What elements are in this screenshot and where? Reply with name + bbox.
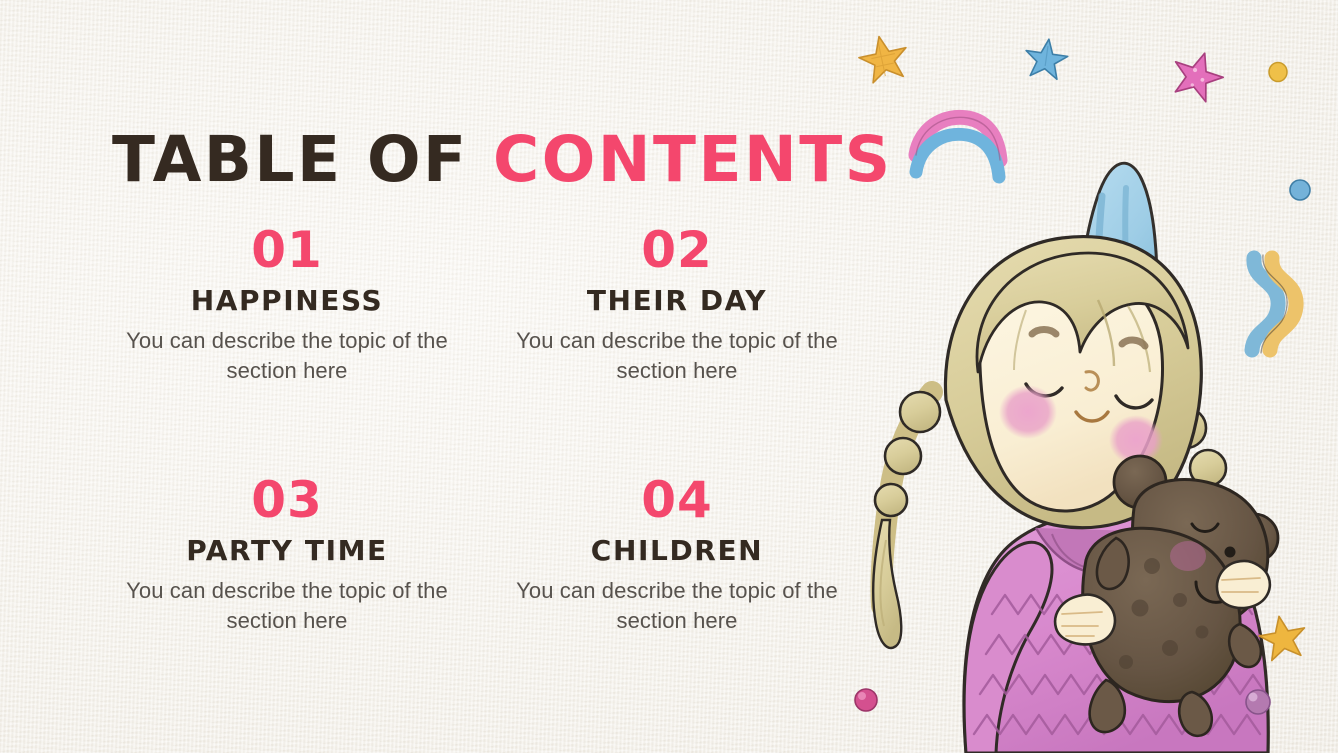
toc-item-03[interactable]: 03 PARTY TIME You can describe the topic… xyxy=(92,472,482,722)
slide-root: TABLE OF CONTENTS 01 HAPPINESS You can d… xyxy=(0,0,1338,753)
page-title: TABLE OF CONTENTS xyxy=(112,128,893,191)
page-title-accent-part: CONTENTS xyxy=(493,123,893,196)
toc-item-number: 01 xyxy=(92,224,482,277)
page-title-dark-part: TABLE OF xyxy=(112,123,469,196)
table-of-contents-grid: 01 HAPPINESS You can describe the topic … xyxy=(92,222,872,722)
purple-dot-icon xyxy=(1246,690,1270,714)
pink-star-icon xyxy=(1167,45,1229,104)
toc-item-04[interactable]: 04 CHILDREN You can describe the topic o… xyxy=(482,472,872,722)
blue-yellow-squiggle-icon xyxy=(1252,255,1296,353)
toc-item-02[interactable]: 02 THEIR DAY You can describe the topic … xyxy=(482,222,872,472)
toc-item-heading: PARTY TIME xyxy=(92,536,482,567)
blue-dot-icon xyxy=(1290,180,1310,200)
toc-item-heading: THEIR DAY xyxy=(482,286,872,317)
confetti-group-top xyxy=(840,32,1287,105)
toc-item-number: 04 xyxy=(482,474,872,527)
orange-star-icon xyxy=(856,32,912,85)
toc-item-number: 02 xyxy=(482,224,872,277)
toc-item-01[interactable]: 01 HAPPINESS You can describe the topic … xyxy=(92,222,482,472)
girl-hugging-teddy-bear-illustration xyxy=(840,0,1338,753)
toc-item-number: 03 xyxy=(92,474,482,527)
toc-item-description: You can describe the topic of the sectio… xyxy=(512,576,842,636)
toc-item-description: You can describe the topic of the sectio… xyxy=(122,326,452,386)
cheek-blush xyxy=(999,385,1057,439)
blue-star-icon xyxy=(1023,36,1070,80)
yellow-dot-icon xyxy=(1269,63,1287,82)
toc-item-description: You can describe the topic of the sectio… xyxy=(122,576,452,636)
toc-item-heading: CHILDREN xyxy=(482,536,872,567)
pink-blue-ribbon-icon xyxy=(916,117,1000,177)
toc-item-description: You can describe the topic of the sectio… xyxy=(512,326,842,386)
left-braid xyxy=(873,392,940,648)
toc-item-heading: HAPPINESS xyxy=(92,286,482,317)
pink-dot-icon xyxy=(855,689,877,711)
